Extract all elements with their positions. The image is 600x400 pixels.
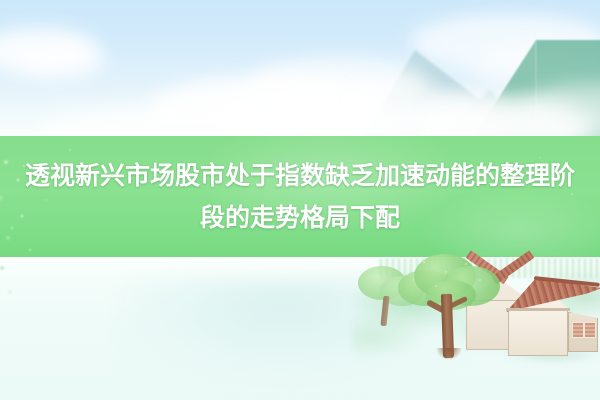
house-front-wall	[508, 310, 568, 356]
screenshot-canvas: 透视新兴市场股市处于指数缺乏加速动能的整理阶 段的走势格局下配	[0, 0, 600, 400]
tree-primary	[396, 252, 506, 364]
tree-trunk	[380, 296, 389, 326]
headline-line-1: 透视新兴市场股市处于指数缺乏加速动能的整理阶	[25, 161, 575, 190]
house-window-mullion	[583, 322, 585, 338]
headline-text: 透视新兴市场股市处于指数缺乏加速动能的整理阶 段的走势格局下配	[0, 155, 600, 239]
sky-background	[0, 0, 600, 142]
cloud-icon	[18, 44, 108, 78]
tree-root	[436, 348, 462, 360]
ground-leaf-left-icon	[0, 258, 50, 328]
headline-line-2: 段的走势格局下配	[0, 197, 600, 239]
house-eave	[506, 308, 570, 311]
